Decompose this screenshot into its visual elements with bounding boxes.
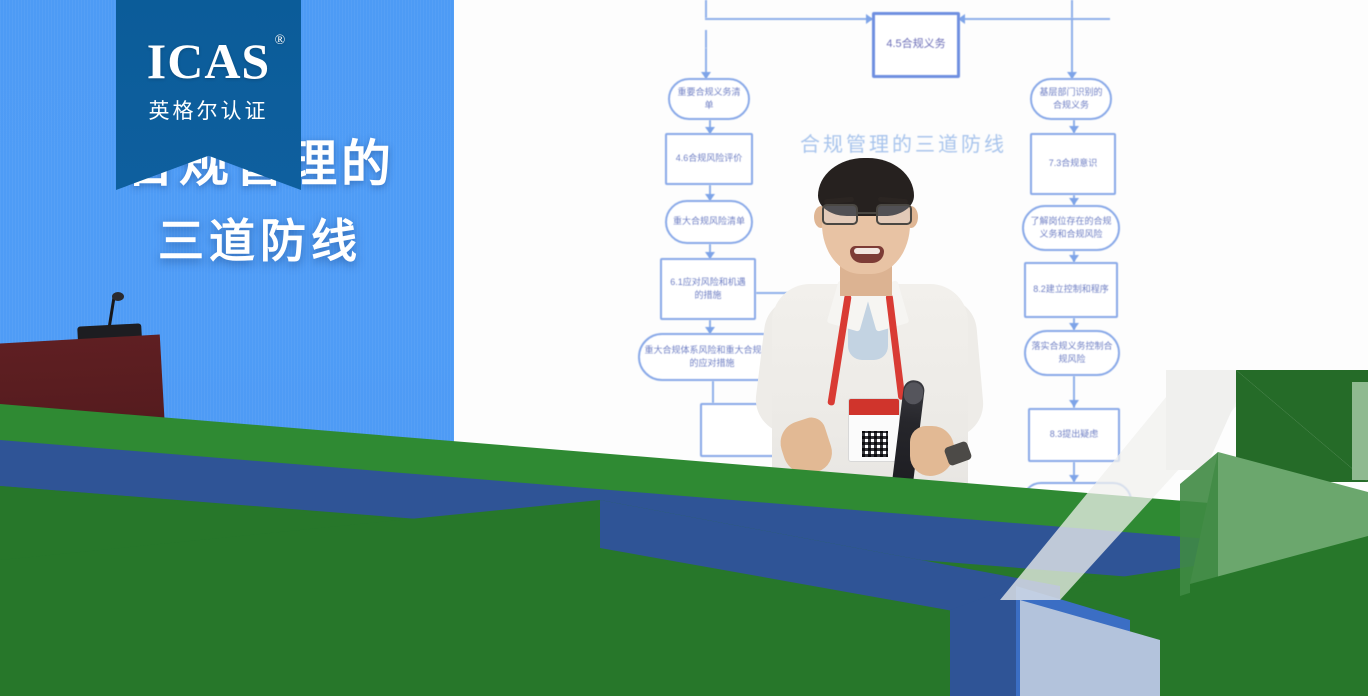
flow-node[interactable]: 重大合规风险清单 [665,200,753,244]
lens-left [822,204,858,225]
audience-head [742,558,800,610]
audience-head [988,536,1048,592]
audience-head [628,538,694,598]
flow-node[interactable]: 疑似不合规 [1022,482,1132,520]
compliance-flowchart: 4.5合规义务 重要合规义务清单 基层部门识别的合规义务 4.6合规风险评价 7… [0,0,1368,696]
edge [712,381,714,403]
edge-arrow-icon [1069,198,1079,205]
flow-node[interactable]: 4.5合规义务 [872,12,960,78]
flow-node[interactable]: 重要合规义务清单 [668,78,750,120]
edge-arrow-icon [1069,538,1079,545]
flow-node[interactable]: 8.3提出疑虑 [1028,408,1120,462]
edge [705,30,707,48]
flow-node[interactable]: 8.2建立控制和程序 [1024,262,1118,318]
podium [0,335,166,460]
edge-arrow-icon [1069,400,1079,407]
flow-node[interactable]: 7.3合规意识 [1030,133,1116,195]
badge-header [849,399,899,415]
qr-code-icon [862,431,888,457]
edge [960,18,1110,20]
audience-head [1250,560,1312,612]
flow-node[interactable]: 了解岗位存在的合规义务和合规风险 [1022,205,1120,251]
glasses-bridge [858,212,876,214]
flow-node[interactable]: 6.1应对风险和机遇的措施 [660,258,756,320]
speaker-badge [848,398,900,462]
flow-node[interactable]: 基层部门识别的合规义务 [1030,78,1112,120]
lens-right [876,204,912,225]
edge-arrow-icon [1069,126,1079,133]
edge [1071,0,1073,18]
edge-arrow-icon [1069,475,1079,482]
speaker-pants [790,530,954,696]
flow-node[interactable]: 落实合规义务控制合规风险 [1024,330,1120,376]
flow-node[interactable]: 4.6合规风险评价 [665,133,753,185]
eyeglasses-icon [822,204,912,226]
edge [1071,18,1073,78]
podium-microphone-icon [112,292,124,301]
edge-arrow-icon [1069,255,1079,262]
speaker-mouth [850,246,884,263]
edge [705,0,707,18]
stage-photo: 合规管理的 三道防线 ICAS® 英格尔认证 [0,0,1368,696]
edge [705,18,873,20]
speaker-person [760,148,990,618]
edge-arrow-icon [1069,323,1079,330]
